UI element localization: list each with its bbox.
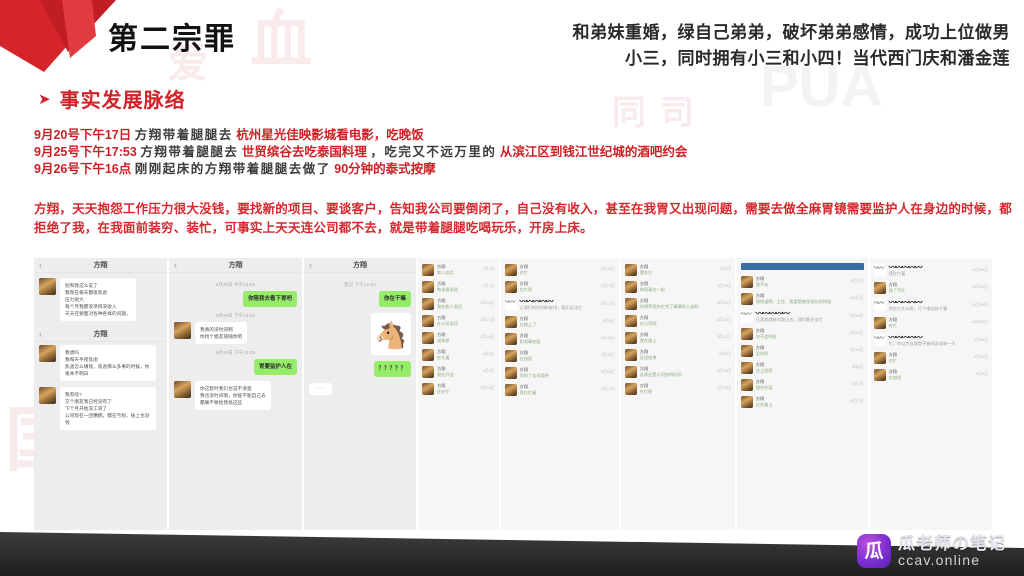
chevron-left-icon[interactable]: ‹ xyxy=(309,260,312,271)
avatar[interactable] xyxy=(39,345,56,362)
avatar xyxy=(505,333,517,345)
watermark-subtitle: ccav.online xyxy=(898,553,1006,568)
list-item-text: 〰〰〰〰〰你在忙什么呢，打个电话给个事 xyxy=(889,299,969,312)
list-item-name: 〰〰〰〰〰 xyxy=(889,264,969,271)
list-item-text: 方翔还没结束 xyxy=(640,349,716,361)
list-item-time: 10月19日 xyxy=(972,303,988,308)
chat-contact-name: 方翔 xyxy=(94,329,108,339)
list-item-text: 方翔我在开会 xyxy=(437,366,480,378)
list-item-preview: 在加班 xyxy=(520,356,598,362)
avatar xyxy=(741,276,753,288)
list-item-time: 5月6日 xyxy=(603,319,615,324)
avatar xyxy=(741,293,753,305)
list-item[interactable]: 方翔你到了告诉我吧4月18日 xyxy=(501,364,619,381)
avatar xyxy=(422,298,434,310)
list-item[interactable]: 方翔说休息6月16日 xyxy=(418,329,499,346)
timeline-highlight: 90分钟的泰式按摩 xyxy=(334,162,435,176)
avatar xyxy=(505,264,517,276)
chat-message: ··· xyxy=(309,383,411,395)
chat-list: 〰〰〰〰〰我在忙着10月19日方翔我了不忙10月19日〰〰〰〰〰你在忙什么呢，打… xyxy=(870,258,992,530)
list-item-preview: 我知道啊，工作，我要是能找现在的时候 xyxy=(756,299,847,305)
list-item-text: 方翔你到了告诉我吧 xyxy=(520,367,598,379)
chat-message: ？？？？？ xyxy=(309,361,411,377)
list-item[interactable]: 方翔在公司说话6月21日 xyxy=(418,312,499,329)
chat-list-panel: 方翔在忙5月24日方翔在忙呢5月19日〰〰〰〰〰让我们的时间和安排，我们无法忙5… xyxy=(501,258,619,530)
chat-message: 别和我这么说了 我现在每天都很焦虑 压力很大 每个月我都没项目没收入 天天还要面… xyxy=(39,278,162,321)
avatar xyxy=(625,281,637,293)
list-item-text: 方翔还在忙 xyxy=(437,383,478,395)
chat-panel: ‹方翔别和我这么说了 我现在每天都很焦虑 压力很大 每个月我都没项目没收入 天天… xyxy=(34,258,167,530)
headline-line-2: 小三，同时拥有小三和小四！当代西门庆和潘金莲 xyxy=(490,46,1010,72)
avatar xyxy=(422,366,434,378)
list-item-preview: 还在忙 xyxy=(437,389,478,395)
sticker-glyph: 🐴 xyxy=(375,322,407,348)
section-heading: ➤ 事实发展脉络 xyxy=(38,84,186,113)
list-item-text: 方翔我在外面 xyxy=(756,379,849,391)
list-item-preview: 有忙 xyxy=(889,323,969,329)
list-item-preview: 这表还是公司加的时间 xyxy=(640,372,714,378)
list-item-preview: 我在和人说话 xyxy=(437,304,478,310)
message-timestamp: 9月26日 中午12:56 xyxy=(174,282,297,288)
chat-message: 你在干嘛 xyxy=(309,291,411,307)
list-item-time: 3月16日 xyxy=(717,318,731,323)
list-item[interactable]: 方翔和老婆说话7月1日 xyxy=(418,278,499,295)
list-item-time: 4月6日 xyxy=(719,267,731,272)
chat-contact-name: 方翔 xyxy=(353,260,367,270)
sticker-image[interactable]: 🐴 xyxy=(371,313,411,355)
list-item-preview: 说休息 xyxy=(437,338,478,344)
list-item-preview: 在忙 xyxy=(889,358,971,364)
list-item[interactable]: 方翔和同事在一起3月30日 xyxy=(621,278,735,295)
chat-message: 🐴 xyxy=(309,313,411,355)
list-item-time: 7月1日 xyxy=(483,284,495,289)
list-item[interactable]: 方翔有忙10月19日 xyxy=(870,314,992,331)
list-item[interactable]: 方翔我了不忙10月19日 xyxy=(870,279,992,296)
avatar xyxy=(625,349,637,361)
avatar xyxy=(422,383,434,395)
avatar xyxy=(625,332,637,344)
timeline-body-2: ，吃完又不远万里的 xyxy=(370,145,496,159)
timeline-highlight: 杭州星光佳映影城看电影，吃晚饭 xyxy=(236,128,424,142)
background-watermark-glyph: 血 xyxy=(250,10,312,72)
list-item-preview: 在加班 xyxy=(889,375,974,381)
list-item-time: 6月28日 xyxy=(481,301,495,306)
list-item-preview: 你在忙什么呢，打个电话给个事 xyxy=(889,306,969,312)
list-item-name: 〰〰〰〰〰 xyxy=(889,299,969,306)
list-item[interactable]: 〰〰〰〰〰忙，你以为自我是干嘛的没说每一天9月26日 xyxy=(870,331,992,349)
list-item-preview: 你不会明白 xyxy=(756,334,847,340)
list-item-time: 9月26日 xyxy=(974,338,988,343)
list-item-time: 10月8日 xyxy=(850,279,864,284)
message-timestamp: 9月26日 下午13:05 xyxy=(174,313,297,319)
list-item-preview: 我在忙 xyxy=(640,270,716,276)
list-item-text: 方翔在加班 xyxy=(889,369,974,381)
list-item-text: 〰〰〰〰〰忙，你以为自我是干嘛的没说每一天 xyxy=(889,334,971,347)
background-watermark-glyph: 司 xyxy=(660,96,694,130)
list-item-preview: 在忙呢 xyxy=(520,287,598,293)
chat-list: 方翔在忙5月24日方翔在忙呢5月19日〰〰〰〰〰让我们的时间和安排，我们无法忙5… xyxy=(501,258,619,530)
avatar xyxy=(422,332,434,344)
list-item[interactable]: 方翔我知道啊，工作，我要是能找现在的时候10月2日 xyxy=(737,290,868,307)
avatar xyxy=(741,328,753,340)
chevron-right-icon: ➤ xyxy=(38,92,51,107)
list-item-preview: 和同事吃饭 xyxy=(520,339,598,345)
list-item-time: 9月14日 xyxy=(850,348,864,353)
list-item-time: 6月21日 xyxy=(481,318,495,323)
list-item-preview: 我了不忙 xyxy=(889,288,969,294)
avatar xyxy=(625,383,637,395)
list-item[interactable]: 〰〰〰〰〰让我们的时间和安排，我们无法忙5月12日 xyxy=(501,295,619,313)
list-item-time: 7月4日 xyxy=(483,267,495,272)
list-item-preview: 和同事在一起 xyxy=(640,287,714,293)
list-item-preview: 在忙呢 xyxy=(640,389,714,395)
list-item[interactable]: 方翔在加班9月5日 xyxy=(870,366,992,383)
chat-list: 方翔和人说话7月4日方翔和老婆说话7月1日方翔我在和人说话6月28日方翔在公司说… xyxy=(418,258,499,530)
list-item-text: 〰〰〰〰〰我在忙着 xyxy=(889,264,969,277)
list-item-time: 3月22日 xyxy=(717,301,731,306)
list-item-text: 方翔在忙呢 xyxy=(520,281,598,293)
list-item[interactable]: 方翔我在忙4月6日 xyxy=(621,261,735,278)
list-item[interactable]: 方翔你得等我先忙完了事情的人说的3月22日 xyxy=(621,295,735,312)
timeline-row: 9月25号下午17:53 方翔带着腿腿去 世贸缤谷去吃泰国料理 ，吃完又不远万里… xyxy=(34,144,687,161)
avatar xyxy=(505,367,517,379)
timeline-body: 方翔带着腿腿去 xyxy=(140,145,238,159)
list-item[interactable]: 方翔在公司呢3月16日 xyxy=(621,312,735,329)
list-item[interactable]: 〰〰〰〰〰我在忙着10月19日 xyxy=(870,261,992,279)
list-item-preview: 在公司呢 xyxy=(640,321,714,327)
list-item-time: 9月2日 xyxy=(852,382,864,387)
message-bubble[interactable]: ··· xyxy=(309,383,332,395)
watermark-title: 瓜老师の笔记 xyxy=(898,535,1006,553)
list-item-text: 方翔还在路上 xyxy=(756,396,847,408)
accusation-paragraph: 方翔，天天抱怨工作压力很大没钱，要找新的项目、要谈客户，告知我公司要倒闭了，自己… xyxy=(34,200,1014,238)
list-item-time: 9月8日 xyxy=(852,365,864,370)
list-item-text: 〰〰〰〰〰让我我就给你发过去，我们都无法忙 xyxy=(756,310,847,323)
list-item-text: 方翔和老婆说话 xyxy=(437,281,480,293)
list-item-preview: 在忙 xyxy=(520,270,598,276)
watermark-logo: 瓜 瓜老师の笔记 ccav.online xyxy=(857,534,1006,568)
list-item-text: 方翔和同事吃饭 xyxy=(520,333,598,345)
list-item-text: 方翔在上班呢 xyxy=(756,362,849,374)
chevron-left-icon[interactable]: ‹ xyxy=(174,260,177,271)
scribble-avatar-icon xyxy=(505,298,517,310)
list-item-time: 9月20日 xyxy=(850,331,864,336)
list-item-time: 10月19日 xyxy=(972,285,988,290)
avatar[interactable] xyxy=(39,387,56,404)
timeline-date: 9月26号下午16点 xyxy=(34,162,131,176)
avatar xyxy=(505,384,517,396)
avatar xyxy=(422,281,434,293)
scribble-avatar-icon xyxy=(874,334,886,346)
list-item[interactable]: 方翔还没结束3月4日 xyxy=(621,346,735,363)
message-bubble[interactable]: 我想吗 我每天半夜焦虑 焦虑怎么赚钱，焦虑那么多事的时候，你根本不明白 xyxy=(60,345,156,381)
chat-header: ‹方翔 xyxy=(34,327,167,342)
list-item-time: 10月19日 xyxy=(972,320,988,325)
timeline-list: 9月20号下午17日 方翔带着腿腿去 杭州星光佳映影城看电影，吃晚饭 9月25号… xyxy=(34,127,687,178)
slide-root: PUA血爱同司国 第二宗罪 和弟妹重婚，绿自己弟弟，破坏弟弟感情，成功上位做男 … xyxy=(0,0,1024,576)
timeline-body: 刚刚起床的方翔带着腿腿去做了 xyxy=(135,162,331,176)
list-item-time: 5月24日 xyxy=(601,267,615,272)
list-item-preview: 让我我就给你发过去，我们都无法忙 xyxy=(756,317,847,323)
list-item-preview: 在上班呢 xyxy=(756,368,849,374)
headline-line-1: 和弟妹重婚，绿自己弟弟，破坏弟弟感情，成功上位做男 xyxy=(490,20,1010,46)
list-item[interactable]: 方翔还在路上8月27日 xyxy=(737,393,868,410)
timeline-date: 9月25号下午17:53 xyxy=(34,145,137,159)
page-title: 第二宗罪 xyxy=(108,14,236,58)
list-item-time: 4月30日 xyxy=(601,336,615,341)
chat-message: 我有啥? 交个朋友我已经没有了 下个月开始没工资了 公司现在一团糟糕，都在亏损，… xyxy=(39,387,162,430)
avatar[interactable] xyxy=(39,278,56,295)
list-item[interactable]: 方翔我在忙着4月12日 xyxy=(501,381,619,398)
chat-list-panel: 方翔我在忙4月6日方翔和同事在一起3月30日方翔你得等我先忙完了事情的人说的3月… xyxy=(621,258,735,530)
list-item[interactable]: 方翔在上班呢9月8日 xyxy=(737,359,868,376)
list-item-time: 9月26日 xyxy=(850,314,864,319)
list-item-text: 方翔和人说话 xyxy=(437,264,480,276)
list-item-time: 6月5日 xyxy=(483,369,495,374)
list-item-text: 方翔在公司说话 xyxy=(437,315,478,327)
list-item-preview: 我不去 xyxy=(756,282,847,288)
list-item-preview: 和老婆说话 xyxy=(437,287,480,293)
avatar xyxy=(625,366,637,378)
list-item[interactable]: 方翔我在外面9月2日 xyxy=(737,376,868,393)
list-item-time: 3月4日 xyxy=(719,352,731,357)
timeline-row: 9月26号下午16点 刚刚起床的方翔带着腿腿去做了 90分钟的泰式按摩 xyxy=(34,161,687,178)
list-item-text: 方翔有忙 xyxy=(889,317,969,329)
avatar xyxy=(741,396,753,408)
list-item[interactable]: 方翔在路上了5月6日 xyxy=(501,313,619,330)
chat-message: 你陪我去看下胃吧 xyxy=(174,291,297,307)
list-item-time: 9月5日 xyxy=(976,372,988,377)
list-item[interactable]: 方翔在忙着6月9日 xyxy=(418,346,499,363)
list-item-preview: 我在外面 xyxy=(756,385,849,391)
avatar xyxy=(874,282,886,294)
chat-header: ‹方翔 xyxy=(34,258,167,273)
list-item[interactable]: 方翔和同事吃饭4月30日 xyxy=(501,330,619,347)
list-item-text: 方翔我在路上 xyxy=(640,332,714,344)
list-item-preview: 我在开会 xyxy=(437,372,480,378)
list-item-time: 2月20日 xyxy=(717,386,731,391)
list-item-preview: 没时间 xyxy=(756,351,847,357)
list-item-preview: 忙，你以为自我是干嘛的没说每一天 xyxy=(889,341,971,347)
list-item-preview: 我在忙着 xyxy=(889,271,969,277)
list-item-text: 〰〰〰〰〰让我们的时间和安排，我们无法忙 xyxy=(520,298,598,311)
list-item[interactable]: 方翔这表还是公司加的时间2月26日 xyxy=(621,363,735,380)
list-item[interactable]: 方翔我不去10月8日 xyxy=(737,273,868,290)
list-item-name: 〰〰〰〰〰 xyxy=(889,334,971,341)
list-item-time: 6月16日 xyxy=(481,335,495,340)
message-bubble[interactable]: 我真的没时间啊 你找个姐友随随你吧 xyxy=(195,322,247,344)
list-item-text: 方翔说休息 xyxy=(437,332,478,344)
chat-message-list: 9月26日 中午12:56你陪我去看下胃吧9月26日 下午13:05我真的没时间… xyxy=(169,273,302,530)
message-bubble[interactable]: 胃要监护人在 xyxy=(254,359,297,375)
list-item-text: 方翔我了不忙 xyxy=(889,282,969,294)
list-item[interactable]: 方翔没时间9月14日 xyxy=(737,342,868,359)
chat-contact-name: 方翔 xyxy=(229,260,243,270)
list-item-text: 方翔在忙 xyxy=(889,352,971,364)
chat-message: 胃要监护人在 xyxy=(174,359,297,375)
list-item[interactable]: 方翔在忙5月24日 xyxy=(501,261,619,278)
list-item[interactable]: 方翔你不会明白9月20日 xyxy=(737,325,868,342)
list-item-text: 方翔在公司呢 xyxy=(640,315,714,327)
list-item-text: 方翔在忙呢 xyxy=(640,383,714,395)
list-item-time: 2月26日 xyxy=(717,369,731,374)
list-item-text: 方翔在路上了 xyxy=(520,316,600,328)
message-timestamp: 9月26日 下午13:05 xyxy=(174,350,297,356)
avatar xyxy=(422,264,434,276)
chat-message-list: 我没 下午12:54你在干嘛🐴？？？？？··· xyxy=(304,273,416,530)
avatar xyxy=(625,298,637,310)
avatar xyxy=(741,362,753,374)
chat-message: 我想吗 我每天半夜焦虑 焦虑怎么赚钱，焦虑那么多事的时候，你根本不明白 xyxy=(39,345,162,381)
avatar xyxy=(505,316,517,328)
list-item-preview: 让我们的时间和安排，我们无法忙 xyxy=(520,305,598,311)
list-item-time: 10月19日 xyxy=(972,268,988,273)
avatar xyxy=(625,315,637,327)
list-item[interactable]: 〰〰〰〰〰让我我就给你发过去，我们都无法忙9月26日 xyxy=(737,307,868,325)
avatar[interactable] xyxy=(174,381,191,398)
list-item-preview: 在路上了 xyxy=(520,322,600,328)
list-item-name: 〰〰〰〰〰 xyxy=(520,298,598,305)
background-watermark-glyph: 同 xyxy=(612,96,646,130)
chat-header: ‹方翔 xyxy=(304,258,416,273)
chat-panel: ‹方翔我没 下午12:54你在干嘛🐴？？？？？··· xyxy=(304,258,416,530)
avatar xyxy=(874,352,886,364)
list-item[interactable]: 方翔还在忙5月28日 xyxy=(418,380,499,397)
avatar xyxy=(422,315,434,327)
scribble-avatar-icon xyxy=(741,310,753,322)
list-item-preview: 在忙着 xyxy=(437,355,480,361)
list-item-time: 5月12日 xyxy=(601,302,615,307)
list-item-preview: 和人说话 xyxy=(437,270,480,276)
chat-list: 方翔我在忙4月6日方翔和同事在一起3月30日方翔你得等我先忙完了事情的人说的3月… xyxy=(621,258,735,530)
list-item-text: 方翔和同事在一起 xyxy=(640,281,714,293)
chat-list-panel: 方翔和人说话7月4日方翔和老婆说话7月1日方翔我在和人说话6月28日方翔在公司说… xyxy=(418,258,499,530)
chevron-left-icon[interactable]: ‹ xyxy=(39,329,42,340)
list-item-preview: 你到了告诉我吧 xyxy=(520,373,598,379)
chat-contact-name: 方翔 xyxy=(94,260,108,270)
avatar xyxy=(741,379,753,391)
message-bubble[interactable]: ？？？？？ xyxy=(374,361,411,377)
chat-message: 我真的没时间啊 你找个姐友随随你吧 xyxy=(174,322,297,344)
list-item-time: 8月27日 xyxy=(850,399,864,404)
chat-list-panel: 方翔我不去10月8日方翔我知道啊，工作，我要是能找现在的时候10月2日〰〰〰〰〰… xyxy=(737,258,868,530)
list-item-time: 6月9日 xyxy=(483,352,495,357)
list-item[interactable]: 方翔我在路上3月10日 xyxy=(621,329,735,346)
list-item-name: 〰〰〰〰〰 xyxy=(756,310,847,317)
list-item-time: 5月28日 xyxy=(481,386,495,391)
list-item-preview: 我在路上 xyxy=(640,338,714,344)
list-item-text: 方翔我在忙着 xyxy=(520,384,598,396)
avatar xyxy=(422,349,434,361)
avatar xyxy=(741,345,753,357)
list-item-time: 4月18日 xyxy=(601,370,615,375)
list-item-text: 方翔没时间 xyxy=(756,345,847,357)
list-item-text: 方翔这表还是公司加的时间 xyxy=(640,366,714,378)
selected-row-highlight xyxy=(741,263,864,270)
chat-list-panel: 〰〰〰〰〰我在忙着10月19日方翔我了不忙10月19日〰〰〰〰〰你在忙什么呢，打… xyxy=(870,258,992,530)
list-item[interactable]: 方翔我在开会6月5日 xyxy=(418,363,499,380)
chat-panel: ‹方翔9月26日 中午12:56你陪我去看下胃吧9月26日 下午13:05我真的… xyxy=(169,258,302,530)
avatar xyxy=(505,281,517,293)
list-item-text: 方翔我在和人说话 xyxy=(437,298,478,310)
scribble-avatar-icon xyxy=(874,264,886,276)
watermark-badge-icon: 瓜 xyxy=(857,534,891,568)
message-timestamp: 我没 下午12:54 xyxy=(309,282,411,288)
avatar[interactable] xyxy=(174,322,191,339)
list-item-time: 3月30日 xyxy=(717,284,731,289)
chevron-left-icon[interactable]: ‹ xyxy=(39,260,42,271)
timeline-body: 方翔带着腿腿去 xyxy=(135,128,233,142)
list-item-time: 10月2日 xyxy=(850,296,864,301)
list-item[interactable]: 方翔在忙呢2月20日 xyxy=(621,380,735,397)
message-bubble[interactable]: 你陪我去看下胃吧 xyxy=(243,291,297,307)
list-item-text: 方翔你不会明白 xyxy=(756,328,847,340)
chat-list: 方翔我不去10月8日方翔我知道啊，工作，我要是能找现在的时候10月2日〰〰〰〰〰… xyxy=(737,258,868,530)
list-item[interactable]: 方翔在加班4月25日 xyxy=(501,347,619,364)
timeline-date: 9月20号下午17日 xyxy=(34,128,131,142)
chat-message: 你这暂时我们也说不清楚 我也没时间啊，你能不能自己去 都联不要给我找这些 xyxy=(174,381,297,410)
avatar xyxy=(625,264,637,276)
message-bubble[interactable]: 你这暂时我们也说不清楚 我也没时间啊，你能不能自己去 都联不要给我找这些 xyxy=(195,381,271,410)
list-item-preview: 还没结束 xyxy=(640,355,716,361)
avatar xyxy=(505,350,517,362)
chat-message-list: 别和我这么说了 我现在每天都很焦虑 压力很大 每个月我都没项目没收入 天天还要面… xyxy=(34,273,167,530)
list-item-preview: 你得等我先忙完了事情的人说的 xyxy=(640,304,714,310)
list-item-text: 方翔我知道啊，工作，我要是能找现在的时候 xyxy=(756,293,847,305)
list-item[interactable]: 方翔我在和人说话6月28日 xyxy=(418,295,499,312)
timeline-highlight-2: 从滨江区到钱江世纪城的酒吧约会 xyxy=(500,145,688,159)
list-item-text: 方翔我在忙 xyxy=(640,264,716,276)
list-item-text: 方翔我不去 xyxy=(756,276,847,288)
evidence-screenshot-strip: ‹方翔别和我这么说了 我现在每天都很焦虑 压力很大 每个月我都没项目没收入 天天… xyxy=(34,258,992,530)
list-item-time: 9月12日 xyxy=(974,355,988,360)
list-item[interactable]: 方翔在忙呢5月19日 xyxy=(501,278,619,295)
chat-header: ‹方翔 xyxy=(169,258,302,273)
scribble-avatar-icon xyxy=(874,299,886,311)
list-item-preview: 在公司说话 xyxy=(437,321,478,327)
list-item-time: 4月12日 xyxy=(601,387,615,392)
list-item[interactable]: 〰〰〰〰〰你在忙什么呢，打个电话给个事10月19日 xyxy=(870,296,992,314)
timeline-highlight: 世贸缤谷去吃泰国料理 xyxy=(242,145,367,159)
watermark-texts: 瓜老师の笔记 ccav.online xyxy=(898,535,1006,568)
list-item-preview: 我在忙着 xyxy=(520,390,598,396)
list-item-text: 方翔在加班 xyxy=(520,350,598,362)
message-bubble[interactable]: 别和我这么说了 我现在每天都很焦虑 压力很大 每个月我都没项目没收入 天天还要面… xyxy=(60,278,136,321)
list-item-time: 4月25日 xyxy=(601,353,615,358)
list-item-time: 3月10日 xyxy=(717,335,731,340)
headline-text: 和弟妹重婚，绿自己弟弟，破坏弟弟感情，成功上位做男 小三，同时拥有小三和小四！当… xyxy=(490,20,1010,73)
list-item-preview: 还在路上 xyxy=(756,402,847,408)
avatar xyxy=(874,317,886,329)
list-item-time: 5月19日 xyxy=(601,284,615,289)
list-item-text: 方翔在忙 xyxy=(520,264,598,276)
section-heading-label: 事实发展脉络 xyxy=(60,84,186,113)
timeline-row: 9月20号下午17日 方翔带着腿腿去 杭州星光佳映影城看电影，吃晚饭 xyxy=(34,127,687,144)
list-item[interactable]: 方翔和人说话7月4日 xyxy=(418,261,499,278)
avatar xyxy=(874,369,886,381)
message-bubble[interactable]: 我有啥? 交个朋友我已经没有了 下个月开始没工资了 公司现在一团糟糕，都在亏损，… xyxy=(60,387,156,430)
list-item[interactable]: 方翔在忙9月12日 xyxy=(870,349,992,366)
message-bubble[interactable]: 你在干嘛 xyxy=(379,291,411,307)
list-item-text: 方翔在忙着 xyxy=(437,349,480,361)
list-item-text: 方翔你得等我先忙完了事情的人说的 xyxy=(640,298,714,310)
